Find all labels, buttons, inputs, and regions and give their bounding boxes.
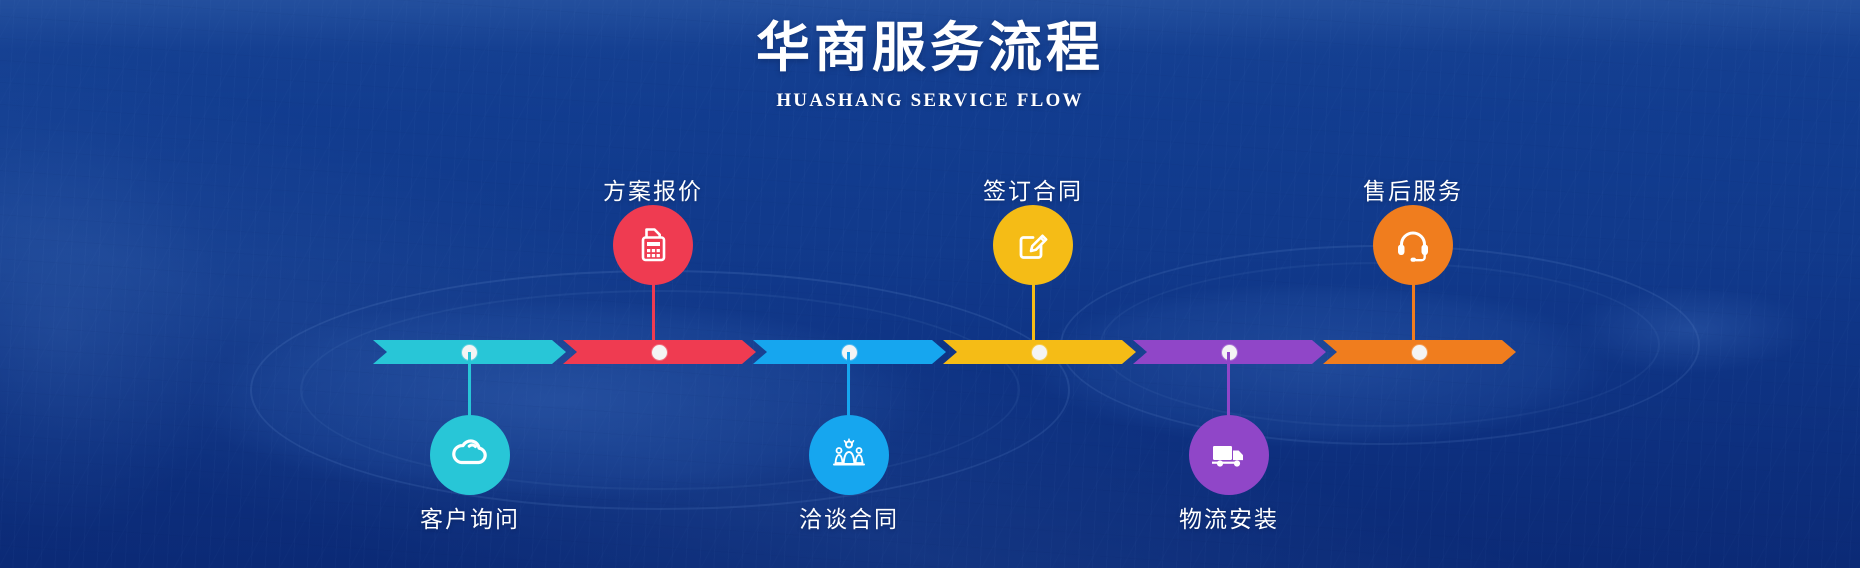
flow-node-dot-6 xyxy=(1412,345,1427,360)
calculator-icon xyxy=(632,224,674,266)
cloud-chat-icon xyxy=(448,433,492,477)
flow-step-label-6: 售后服务 xyxy=(1363,172,1463,206)
flow-icon-bubble-6[interactable] xyxy=(1373,205,1453,285)
flow-step-label-3: 洽谈合同 xyxy=(799,500,899,534)
flow-step-bar-6[interactable] xyxy=(1323,340,1516,364)
flow-icon-bubble-5[interactable] xyxy=(1189,415,1269,495)
flow-step-label-4: 签订合同 xyxy=(983,172,1083,206)
flow-step-label-1: 客户询问 xyxy=(420,500,520,534)
flow-step-bar-2[interactable] xyxy=(563,340,756,364)
flow-step-label-5: 物流安装 xyxy=(1179,500,1279,534)
meeting-people-icon xyxy=(827,433,871,477)
flow-connector-5 xyxy=(1227,352,1230,420)
flow-connector-3 xyxy=(847,352,850,420)
flow-step-bar-4[interactable] xyxy=(943,340,1136,364)
sign-pen-icon xyxy=(1012,224,1054,266)
headset-support-icon xyxy=(1391,223,1435,267)
flow-icon-bubble-3[interactable] xyxy=(809,415,889,495)
flow-node-dot-2 xyxy=(652,345,667,360)
flow-connector-4 xyxy=(1032,283,1035,343)
flow-step-label-2: 方案报价 xyxy=(603,172,703,206)
delivery-truck-icon xyxy=(1207,433,1251,477)
service-flow-diagram: 客户询问 方案报价 xyxy=(0,0,1860,568)
flow-connector-6 xyxy=(1412,283,1415,343)
flow-node-dot-4 xyxy=(1032,345,1047,360)
flow-icon-bubble-1[interactable] xyxy=(430,415,510,495)
flow-icon-bubble-2[interactable] xyxy=(613,205,693,285)
flow-connector-1 xyxy=(468,352,471,420)
flow-icon-bubble-4[interactable] xyxy=(993,205,1073,285)
flow-connector-2 xyxy=(652,283,655,343)
